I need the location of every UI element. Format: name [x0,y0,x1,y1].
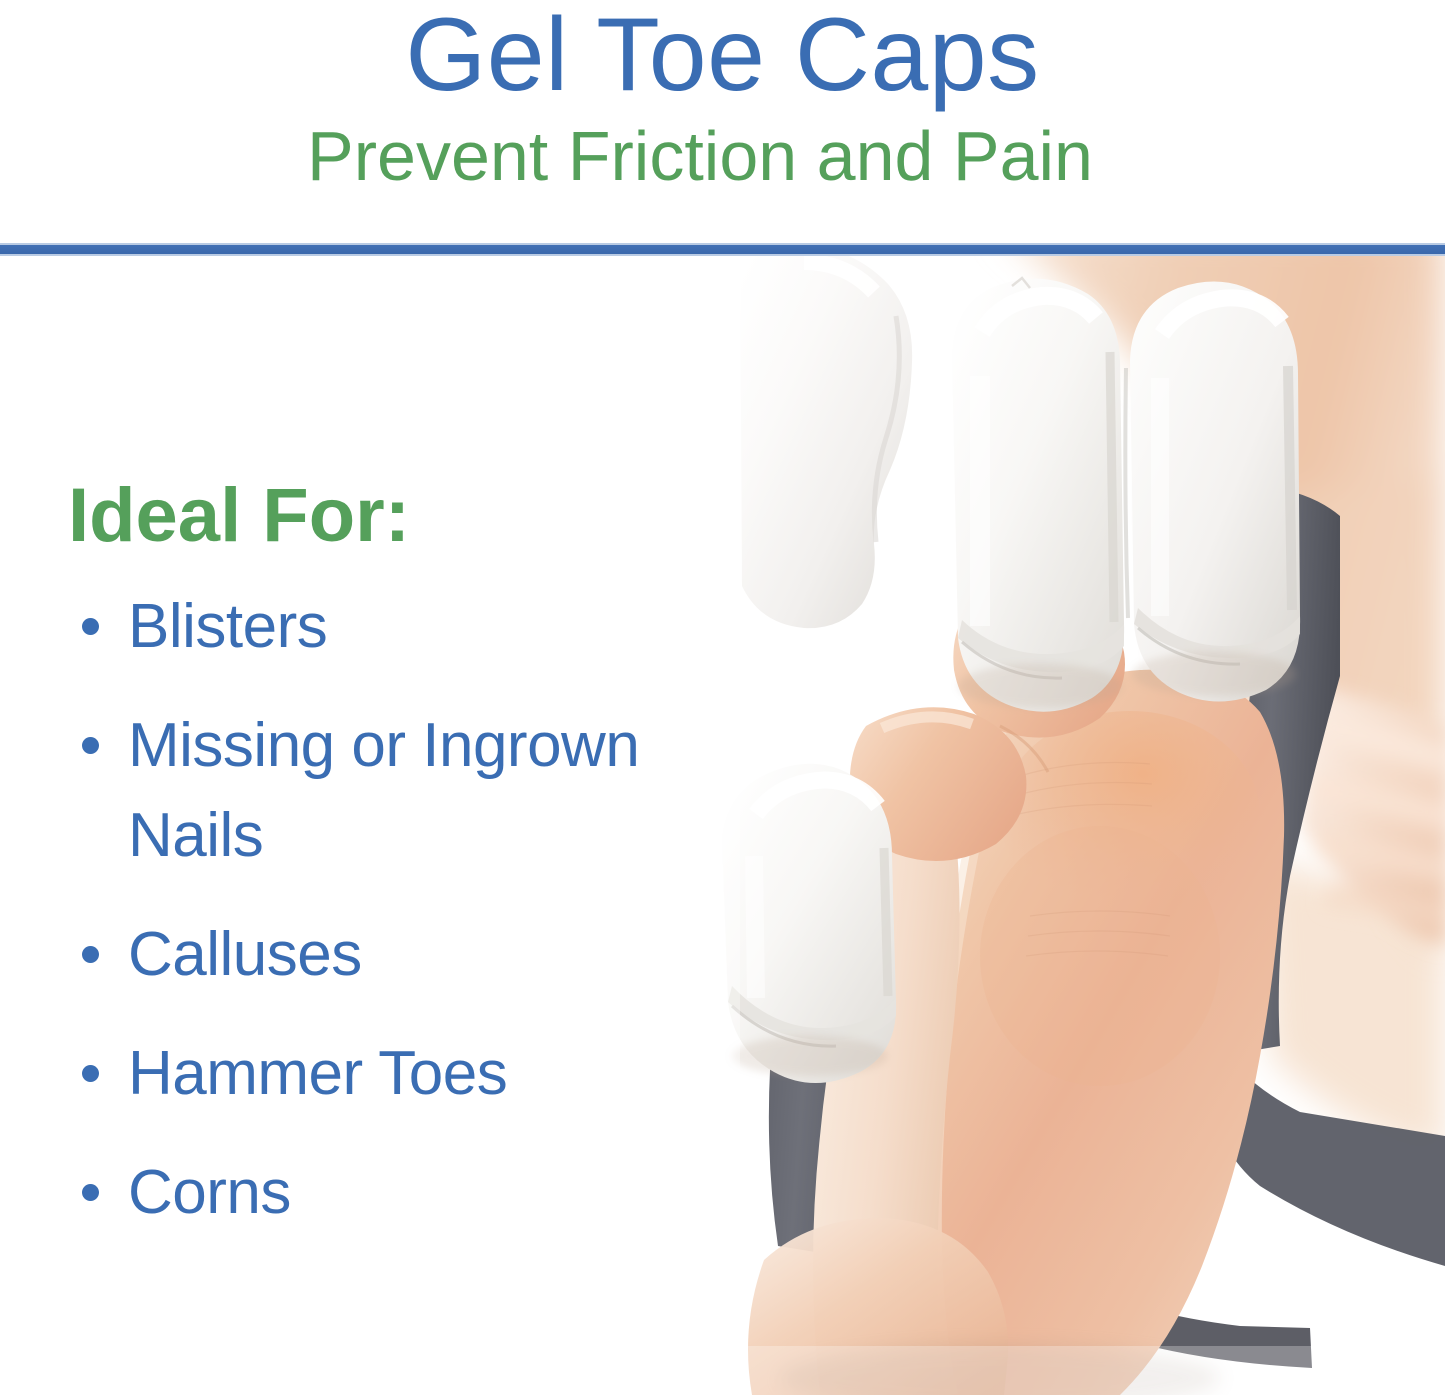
features-list: Blisters Missing or Ingrown Nails Callus… [68,582,668,1238]
page-title: Gel Toe Caps [0,0,1445,117]
list-item-label: Hammer Toes [128,1039,507,1108]
list-item-label: Corns [128,1158,291,1227]
bullet-dot-icon [82,618,99,635]
list-item-label: Calluses [128,920,362,989]
features-heading: Ideal For: [68,472,410,559]
list-item: Hammer Toes [68,1029,668,1118]
header-banner: Gel Toe Caps Prevent Friction and Pain [0,0,1445,244]
gel-toe-cap-b [1125,282,1300,702]
list-item-label: Blisters [128,592,327,661]
gel-toe-cap-pinky [722,764,896,1083]
features-panel: Ideal For: Blisters Missing or Ingrown N… [0,256,700,1395]
gel-toe-cap-a [952,278,1124,712]
bullet-dot-icon [82,737,99,754]
list-item: Missing or Ingrown Nails [68,701,668,880]
list-item: Corns [68,1148,668,1237]
bullet-dot-icon [82,1184,99,1201]
product-photo [700,256,1445,1395]
list-item: Blisters [68,582,668,671]
product-infographic: Gel Toe Caps Prevent Friction and Pain I… [0,0,1445,1395]
bullet-dot-icon [82,946,99,963]
foot-with-gel-toe-caps-illustration [700,256,1445,1395]
bullet-dot-icon [82,1065,99,1082]
list-item: Calluses [68,910,668,999]
list-item-label: Missing or Ingrown Nails [128,711,639,869]
page-subtitle: Prevent Friction and Pain [0,114,1400,198]
header-divider-rule [0,243,1445,256]
